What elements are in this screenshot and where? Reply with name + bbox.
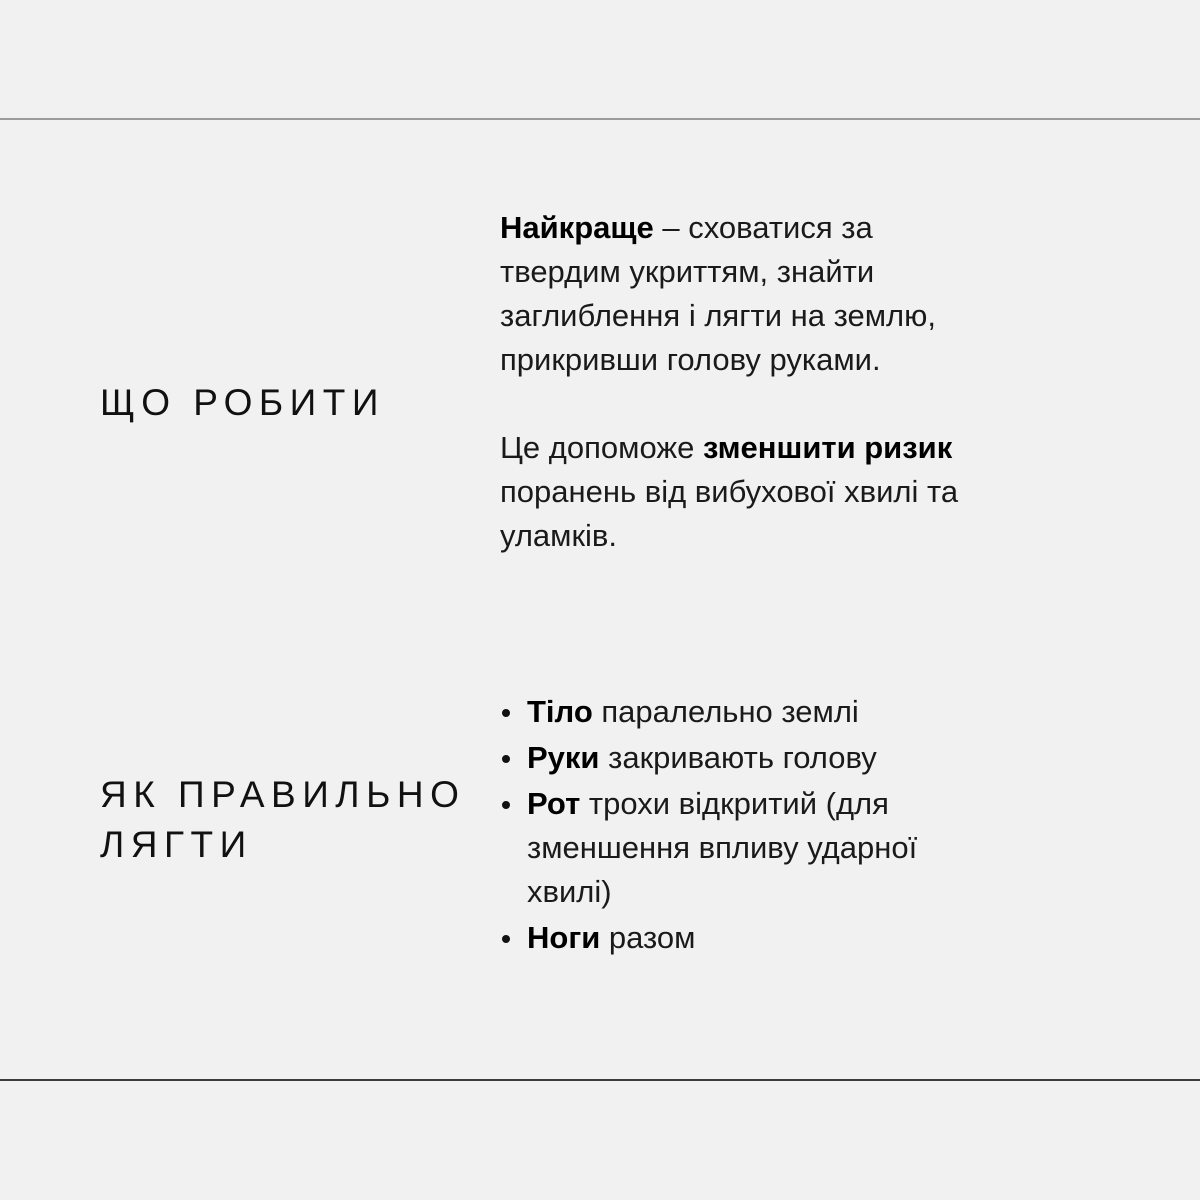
- slide-content: ЩО РОБИТИ Найкраще – сховатися за тверди…: [0, 120, 1200, 1079]
- bullet-dot-icon: [502, 755, 510, 763]
- paragraph-reduce-risk-prefix: Це допоможе: [500, 430, 703, 465]
- section-title-how-to-lie-down: ЯК ПРАВИЛЬНО ЛЯГТИ: [100, 770, 500, 870]
- list-item-text: трохи відкритий (для зменшення впливу уд…: [527, 786, 917, 909]
- list-item-text: паралельно землі: [593, 694, 859, 729]
- paragraph-reduce-risk: Це допоможе зменшити ризик поранень від …: [500, 426, 990, 558]
- list-item: Рот трохи відкритий (для зменшення вплив…: [500, 782, 980, 914]
- section-what-to-do-heading-col: ЩО РОБИТИ: [0, 206, 500, 428]
- list-item-term: Руки: [527, 740, 600, 775]
- list-item-term: Ноги: [527, 920, 600, 955]
- paragraph-reduce-risk-rest: поранень від вибухової хвилі та уламків.: [500, 474, 958, 553]
- list-item-term: Рот: [527, 786, 580, 821]
- paragraph-reduce-risk-emphasis: зменшити ризик: [703, 430, 952, 465]
- slide-root: ЩО РОБИТИ Найкраще – сховатися за тверди…: [0, 0, 1200, 1200]
- paragraph-best-action: Найкраще – сховатися за твердим укриттям…: [500, 206, 990, 382]
- list-item: Тіло паралельно землі: [500, 690, 980, 734]
- section-how-to-lie-down: ЯК ПРАВИЛЬНО ЛЯГТИ Тіло паралельно землі…: [0, 690, 1200, 962]
- list-item-term: Тіло: [527, 694, 593, 729]
- bullet-dot-icon: [502, 709, 510, 717]
- list-item-text: разом: [600, 920, 695, 955]
- paragraph-best-action-lead: Найкраще: [500, 210, 654, 245]
- bullet-dot-icon: [502, 801, 510, 809]
- section-title-what-to-do: ЩО РОБИТИ: [100, 378, 500, 428]
- section-how-to-lie-down-body: Тіло паралельно землі Руки закривають го…: [500, 690, 1200, 962]
- list-item: Ноги разом: [500, 916, 980, 960]
- section-what-to-do: ЩО РОБИТИ Найкраще – сховатися за тверди…: [0, 206, 1200, 558]
- section-what-to-do-body: Найкраще – сховатися за твердим укриттям…: [500, 206, 1200, 558]
- list-item-text: закривають голову: [600, 740, 877, 775]
- posture-bullet-list: Тіло паралельно землі Руки закривають го…: [500, 690, 980, 960]
- list-item: Руки закривають голову: [500, 736, 980, 780]
- footer: 4: [0, 1081, 1200, 1200]
- bullet-dot-icon: [502, 935, 510, 943]
- section-how-to-lie-down-heading-col: ЯК ПРАВИЛЬНО ЛЯГТИ: [0, 690, 500, 870]
